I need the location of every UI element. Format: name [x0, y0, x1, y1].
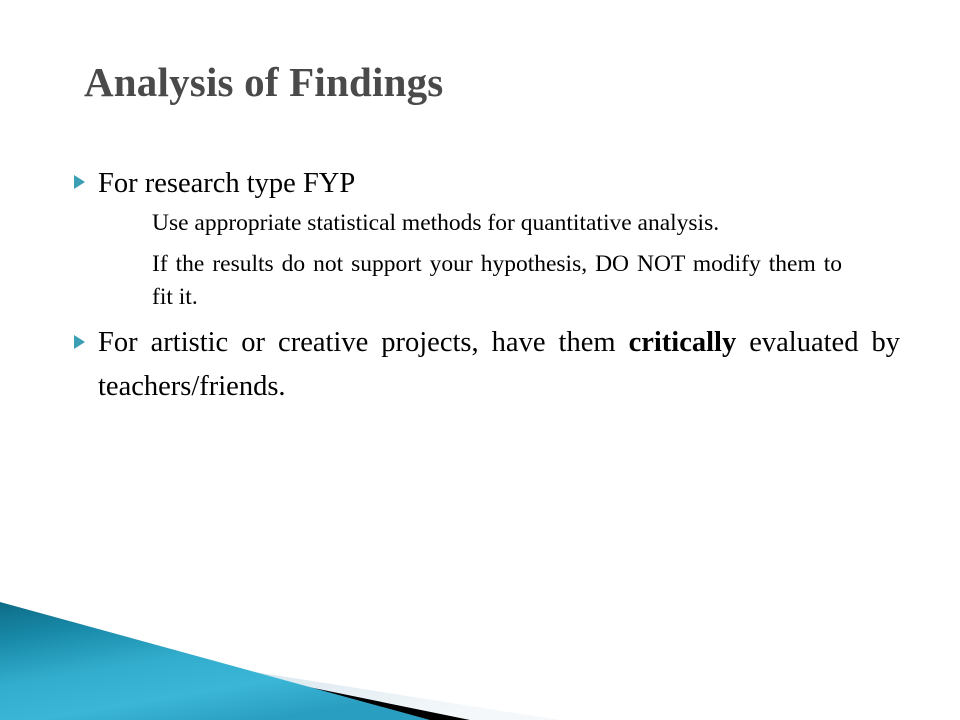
- bullet-text-before-emphasis: For artistic or creative projects, have …: [98, 327, 629, 358]
- corner-black-wedge: [0, 624, 470, 720]
- sub-text-level2: Use appropriate statistical methods for …: [70, 207, 900, 240]
- bottom-left-corner-graphic: [0, 580, 620, 720]
- corner-teal-triangle: [0, 602, 430, 720]
- bullet-text: For research type FYP: [98, 168, 355, 199]
- page-title: Analysis of Findings: [84, 58, 443, 106]
- triangle-right-icon: [74, 335, 85, 349]
- corner-pale-band: [0, 632, 560, 720]
- triangle-right-icon: [74, 175, 85, 189]
- bullet-text-emphasis: critically: [629, 327, 737, 358]
- bullet-item-level1: For research type FYP: [70, 162, 900, 205]
- slide-body: For research type FYP Use appropriate st…: [70, 162, 900, 408]
- slide-canvas: Analysis of Findings For research type F…: [0, 0, 960, 720]
- bullet-item-level1: For artistic or creative projects, have …: [70, 321, 900, 408]
- sub-text-level2: If the results do not support your hypot…: [70, 248, 900, 315]
